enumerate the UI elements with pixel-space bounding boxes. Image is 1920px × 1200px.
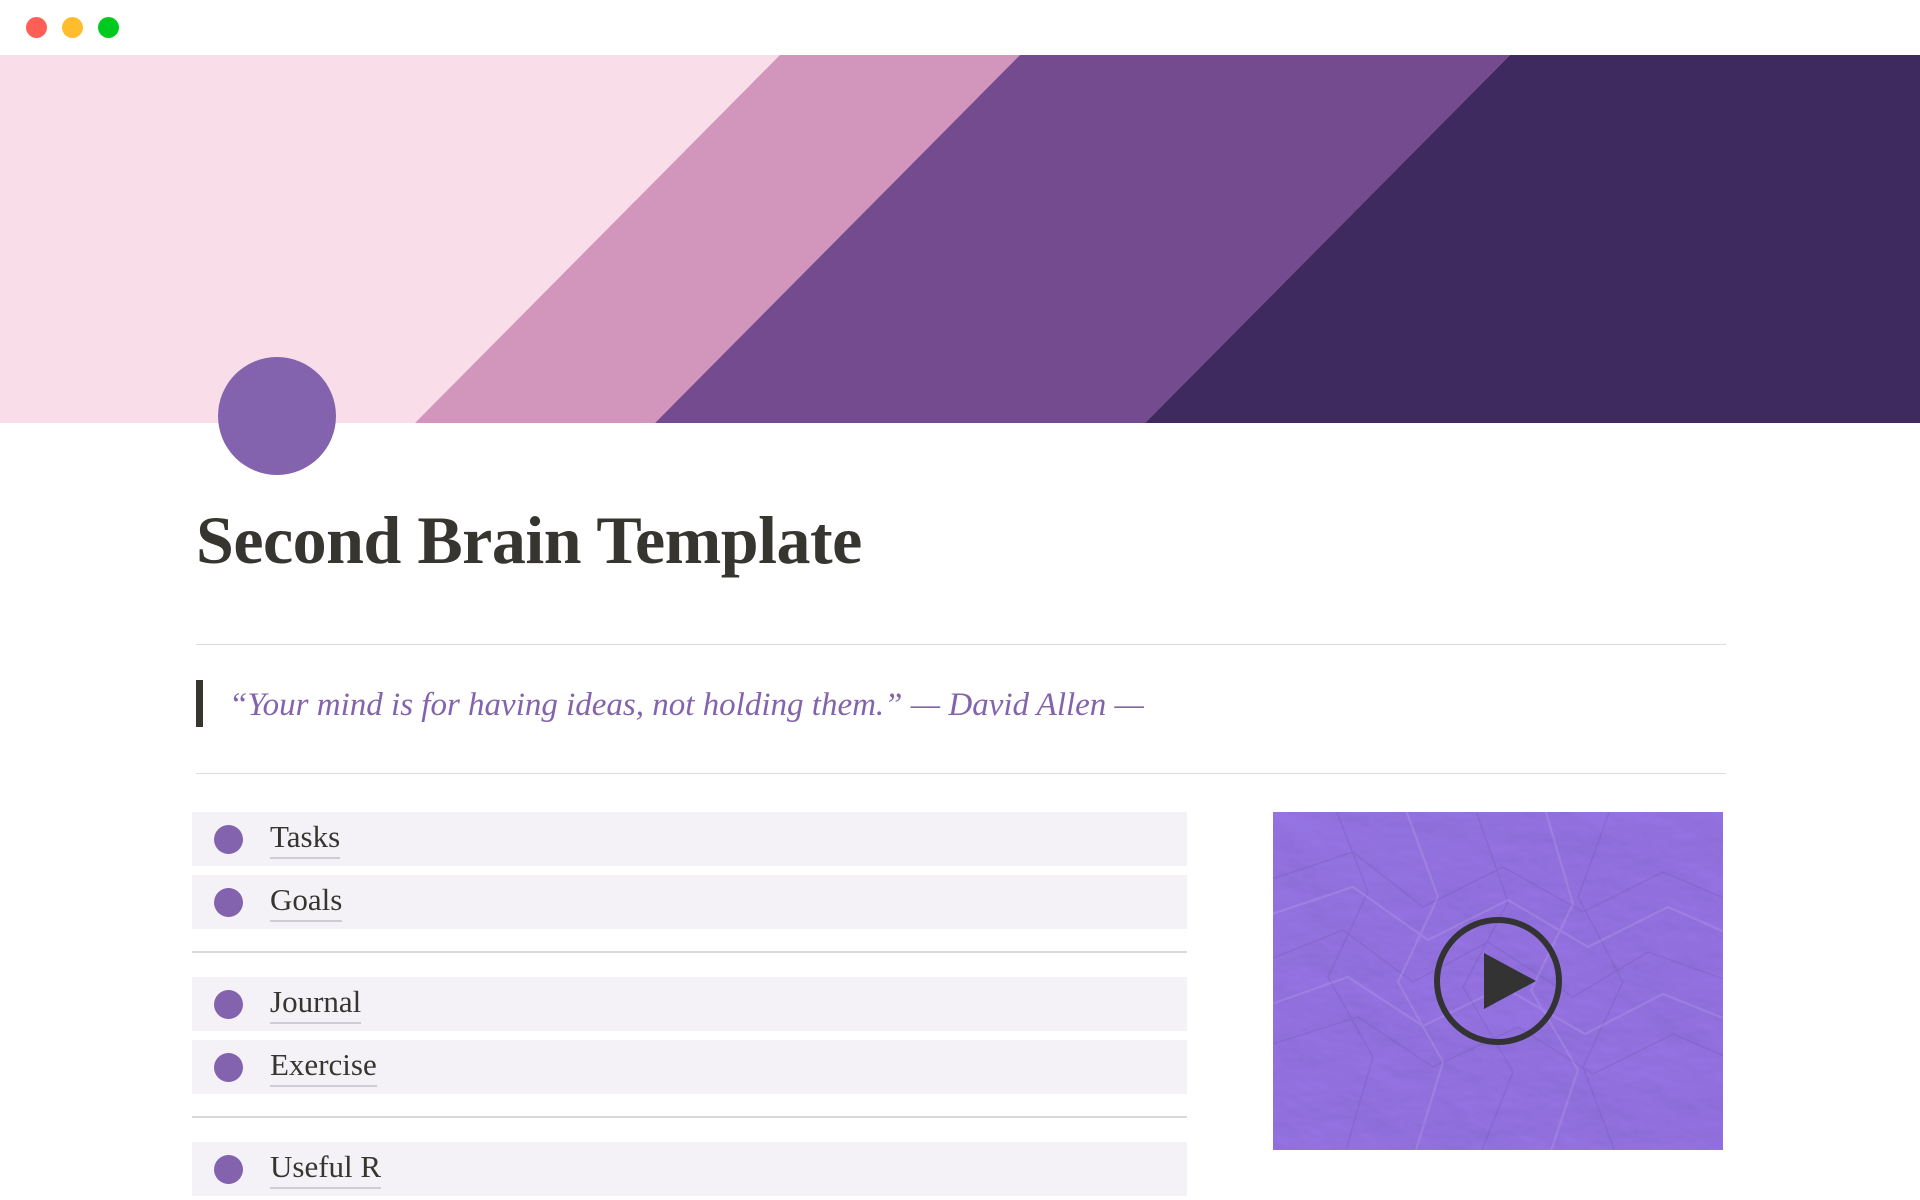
list-item[interactable]: Useful R <box>192 1142 1187 1196</box>
bullet-icon <box>214 1053 243 1082</box>
bullet-icon <box>214 990 243 1019</box>
video-thumbnail[interactable] <box>1273 812 1723 1150</box>
list-item-label[interactable]: Goals <box>270 883 342 922</box>
page-title: Second Brain Template <box>0 500 1920 580</box>
list-item-label[interactable]: Useful R <box>270 1150 381 1189</box>
list-group-divider <box>192 1116 1187 1118</box>
list-item-label[interactable]: Journal <box>270 985 361 1024</box>
play-icon[interactable] <box>1432 915 1564 1047</box>
link-group-3: Useful R <box>192 1142 1187 1196</box>
maximize-window-button[interactable] <box>98 17 119 38</box>
divider-above-quote <box>196 644 1726 645</box>
list-item[interactable]: Tasks <box>192 812 1187 866</box>
bullet-icon <box>214 1155 243 1184</box>
list-item[interactable]: Exercise <box>192 1040 1187 1094</box>
traffic-light-group <box>26 17 119 38</box>
app-window: Second Brain Template “Your mind is for … <box>0 0 1920 1200</box>
list-item[interactable]: Journal <box>192 977 1187 1031</box>
page-content: Second Brain Template “Your mind is for … <box>0 500 1920 1200</box>
list-item-label[interactable]: Tasks <box>270 820 340 859</box>
quote-text: “Your mind is for having ideas, not hold… <box>229 680 1144 727</box>
link-group-1: Tasks Goals <box>192 812 1187 929</box>
link-list-column: Tasks Goals Journal Exercise <box>192 812 1187 1200</box>
link-group-2: Journal Exercise <box>192 977 1187 1094</box>
quote-block: “Your mind is for having ideas, not hold… <box>0 680 1920 727</box>
minimize-window-button[interactable] <box>62 17 83 38</box>
close-window-button[interactable] <box>26 17 47 38</box>
quote-accent-bar <box>196 680 203 727</box>
media-column <box>1273 812 1723 1150</box>
list-item-label[interactable]: Exercise <box>270 1048 377 1087</box>
body-columns: Tasks Goals Journal Exercise <box>0 812 1920 1200</box>
divider-below-quote <box>196 773 1726 774</box>
window-titlebar <box>0 0 1920 55</box>
list-item[interactable]: Goals <box>192 875 1187 929</box>
list-group-divider <box>192 951 1187 953</box>
page-icon[interactable] <box>218 357 336 475</box>
bullet-icon <box>214 825 243 854</box>
bullet-icon <box>214 888 243 917</box>
